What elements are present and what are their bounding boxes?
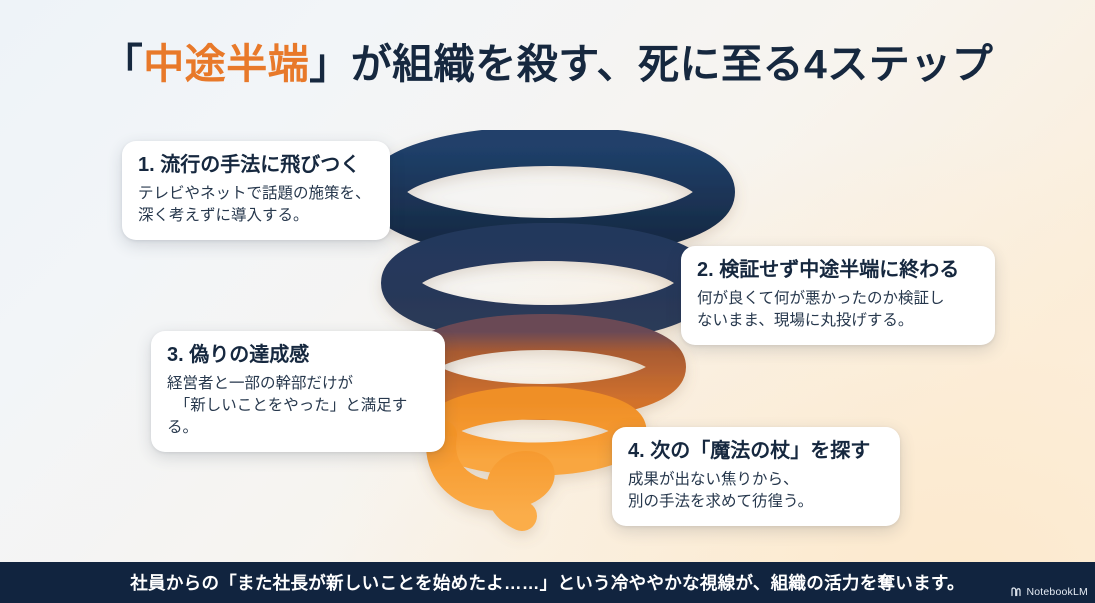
bottom-banner: 社員からの「また社長が新しいことを始めたよ……」という冷ややかな視線が、組織の活… bbox=[0, 562, 1095, 603]
callout-step-2: 2. 検証せず中途半端に終わる 何が良くて何が悪かったのか検証し ないまま、現場… bbox=[681, 246, 995, 345]
spiral-coil-4 bbox=[440, 403, 630, 459]
notebooklm-watermark: NotebookLM bbox=[1010, 586, 1088, 598]
callout-step-4: 4. 次の「魔法の杖」を探す 成果が出ない焦りから、 別の手法を求めて彷徨う。 bbox=[612, 427, 900, 526]
callout-heading: 3. 偽りの達成感 bbox=[167, 343, 429, 368]
callout-heading: 4. 次の「魔法の杖」を探す bbox=[628, 439, 884, 464]
page-title: 「中途半端」が組織を殺す、死に至る4ステップ bbox=[0, 40, 1095, 89]
callout-body: 成果が出ない焦りから、 別の手法を求めて彷徨う。 bbox=[628, 469, 884, 513]
callout-body: 経営者と一部の幹部だけが 「新しいことをやった」と満足する。 bbox=[167, 373, 429, 439]
title-highlight: 中途半端 bbox=[143, 41, 309, 87]
callout-step-3: 3. 偽りの達成感 経営者と一部の幹部だけが 「新しいことをやった」と満足する。 bbox=[151, 331, 445, 452]
callout-body: テレビやネットで話題の施策を、 深く考えずに導入する。 bbox=[138, 183, 374, 227]
callout-heading: 1. 流行の手法に飛びつく bbox=[138, 153, 374, 178]
banner-text: 社員からの「また社長が新しいことを始めたよ……」という冷ややかな視線が、組織の活… bbox=[130, 570, 965, 595]
spiral-coil-2 bbox=[400, 242, 696, 324]
title-prefix: 「 bbox=[102, 41, 144, 87]
notebooklm-icon bbox=[1010, 586, 1022, 598]
callout-step-1: 1. 流行の手法に飛びつく テレビやネットで話題の施策を、 深く考えずに導入する… bbox=[122, 141, 390, 240]
callout-body: 何が良くて何が悪かったのか検証し ないまま、現場に丸投げする。 bbox=[697, 288, 979, 332]
title-text: 「中途半端」が組織を殺す、死に至る4ステップ bbox=[0, 40, 1095, 89]
slide-canvas: 「中途半端」が組織を殺す、死に至る4ステップ bbox=[0, 0, 1095, 603]
title-suffix: 」が組織を殺す、死に至る4ステップ bbox=[309, 41, 993, 87]
callout-heading: 2. 検証せず中途半端に終わる bbox=[697, 258, 979, 283]
notebooklm-label: NotebookLM bbox=[1026, 586, 1088, 598]
